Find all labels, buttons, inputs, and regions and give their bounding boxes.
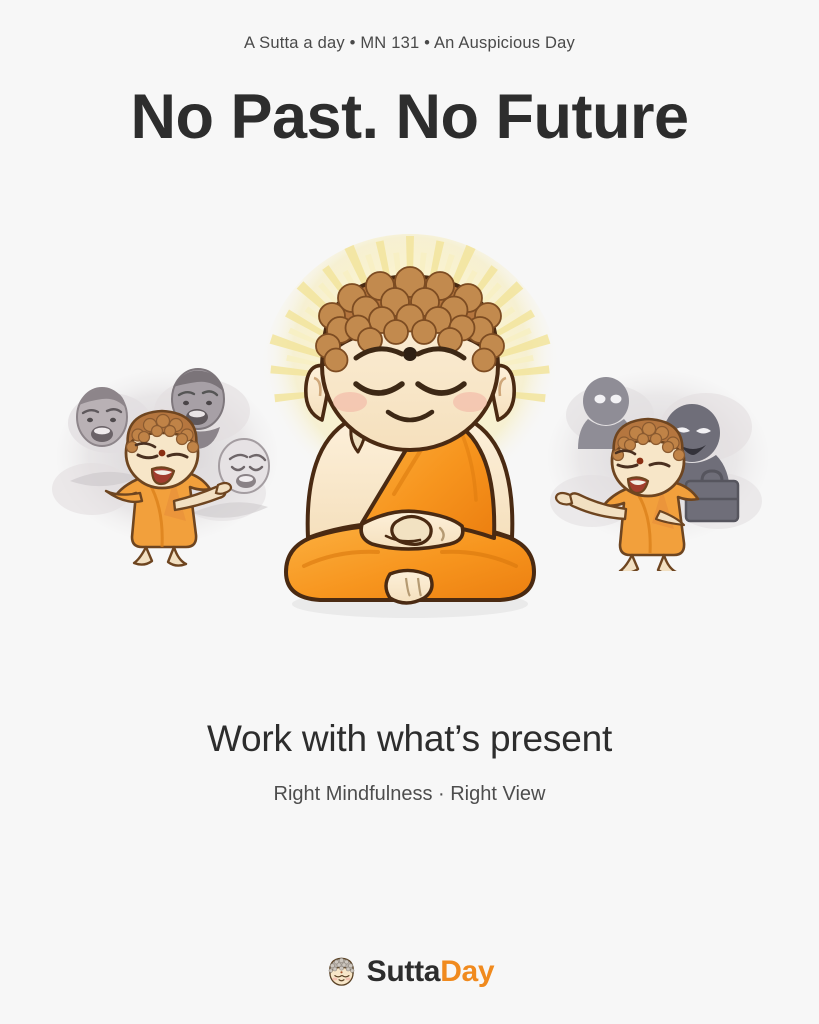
buddha-head-icon bbox=[325, 955, 358, 988]
eyebrow-caption: A Sutta a day • MN 131 • An Auspicious D… bbox=[244, 34, 575, 54]
brand-name-accent: Day bbox=[440, 955, 494, 988]
poster-canvas: A Sutta a day • MN 131 • An Auspicious D… bbox=[0, 0, 819, 1024]
meditating-buddha-illustration bbox=[200, 206, 620, 646]
subheading: Work with what’s present bbox=[207, 718, 612, 761]
brand-logo[interactable]: SuttaDay bbox=[0, 955, 819, 988]
page-title: No Past. No Future bbox=[130, 84, 688, 150]
brand-name-primary: Sutta bbox=[367, 955, 441, 988]
meditation-hands bbox=[361, 511, 463, 549]
path-factors-caption: Right Mindfulness · Right View bbox=[274, 782, 546, 806]
illustration-area bbox=[0, 206, 819, 676]
angry-ghost-face-left bbox=[77, 388, 127, 446]
urna-dot bbox=[403, 347, 417, 361]
